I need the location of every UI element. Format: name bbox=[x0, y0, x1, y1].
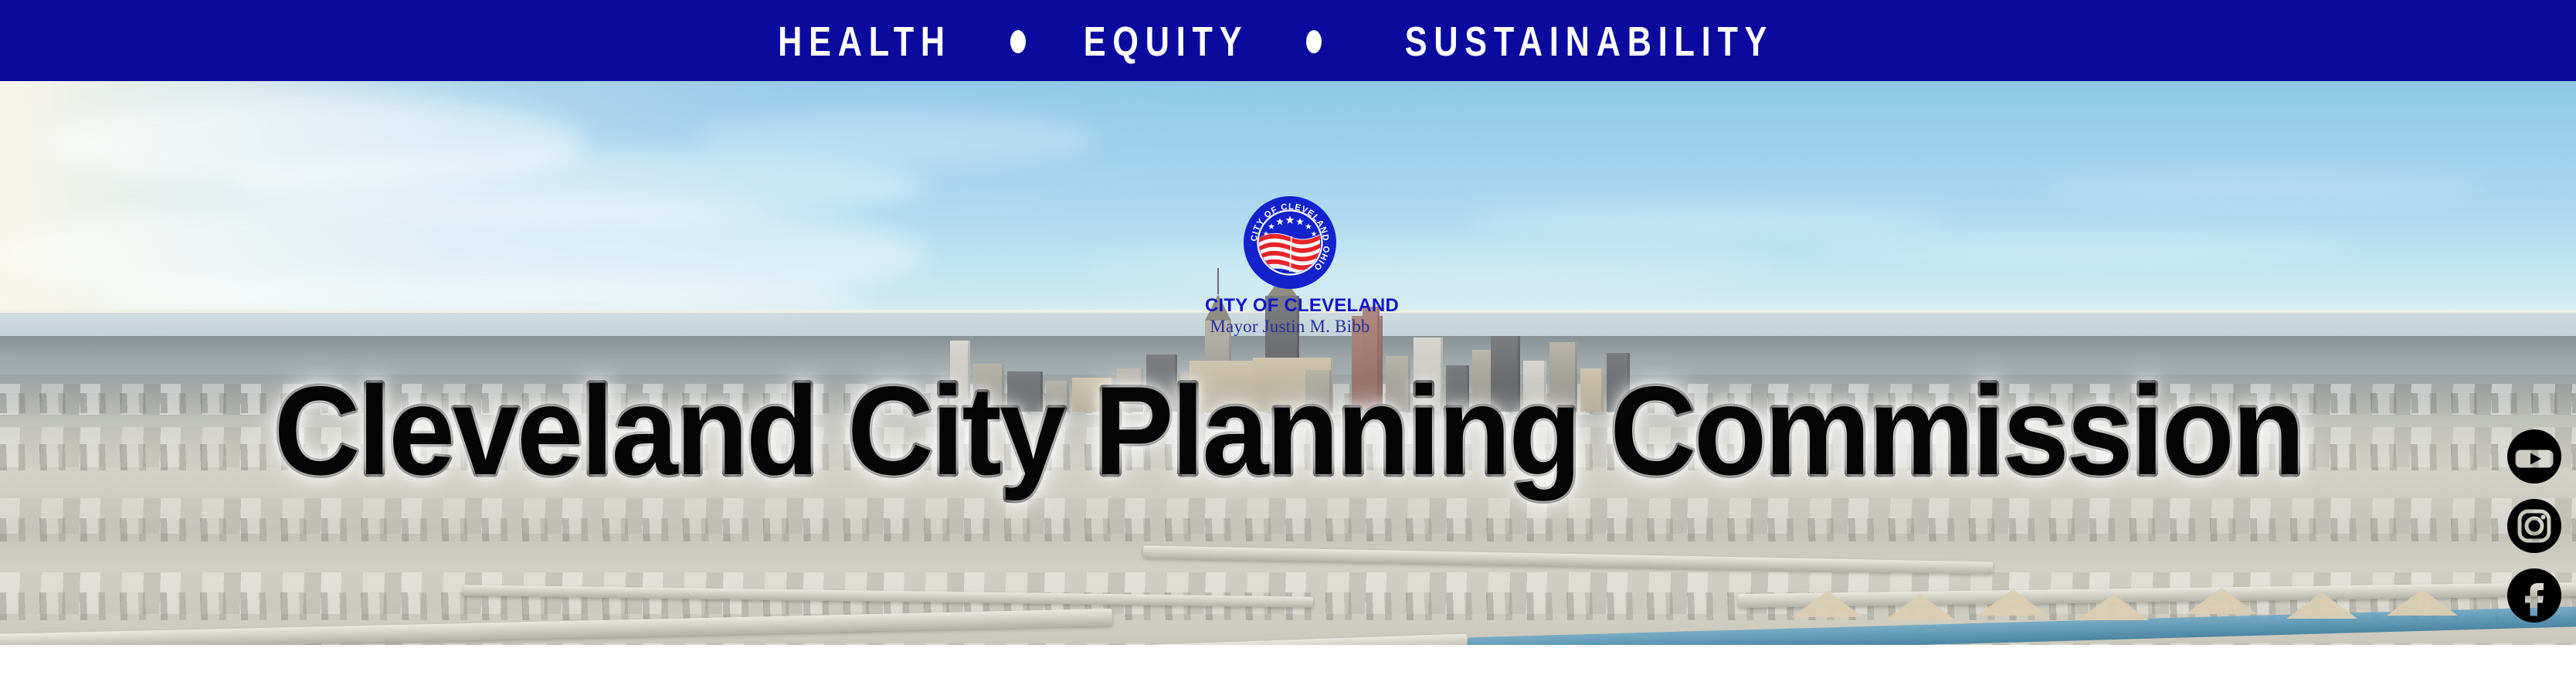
tagline-word-equity: EQUITY bbox=[1084, 21, 1249, 63]
urban-texture bbox=[0, 518, 2576, 541]
bottom-white-strip bbox=[0, 645, 2576, 682]
tagline-bar: HEALTH EQUITY SUSTAINABILITY bbox=[0, 0, 2576, 81]
facebook-icon[interactable] bbox=[2506, 568, 2562, 623]
aggregate-pile bbox=[1885, 594, 1956, 620]
cloud bbox=[695, 112, 1097, 166]
mayor-name-label: Mayor Justin M. Bibb bbox=[1205, 317, 1375, 337]
urban-texture bbox=[0, 444, 2576, 470]
social-links bbox=[2506, 429, 2562, 623]
tagline-word-sustainability: SUSTAINABILITY bbox=[1405, 21, 1774, 63]
cloud bbox=[1468, 205, 1946, 237]
hero-banner-image: CITY OF CLEVELAND OHIO CITY OF CLEVELAND… bbox=[0, 81, 2576, 645]
tagline-word-health: HEALTH bbox=[778, 21, 952, 63]
city-logo-block[interactable]: CITY OF CLEVELAND OHIO CITY OF CLEVELAND… bbox=[1205, 195, 1375, 338]
aggregate-pile bbox=[1977, 589, 2048, 616]
youtube-icon[interactable] bbox=[2506, 429, 2562, 484]
aggregate-pile bbox=[2387, 589, 2458, 616]
aggregate-pile bbox=[2186, 588, 2257, 614]
aggregate-pile bbox=[2078, 594, 2149, 620]
dot-separator-icon bbox=[1306, 30, 1322, 53]
cloud bbox=[2047, 174, 2479, 197]
page-root: HEALTH EQUITY SUSTAINABILITY bbox=[0, 0, 2576, 682]
dot-separator-icon bbox=[1010, 30, 1026, 53]
tagline-inner: HEALTH EQUITY SUSTAINABILITY bbox=[756, 21, 1820, 63]
aggregate-pile bbox=[1792, 591, 1863, 617]
city-name-label: CITY OF CLEVELAND bbox=[1205, 296, 1375, 315]
aggregate-pile bbox=[2286, 592, 2357, 619]
instagram-icon[interactable] bbox=[2506, 498, 2562, 554]
city-of-cleveland-seal-icon: CITY OF CLEVELAND OHIO bbox=[1243, 195, 1337, 290]
cloud bbox=[1815, 236, 2356, 262]
